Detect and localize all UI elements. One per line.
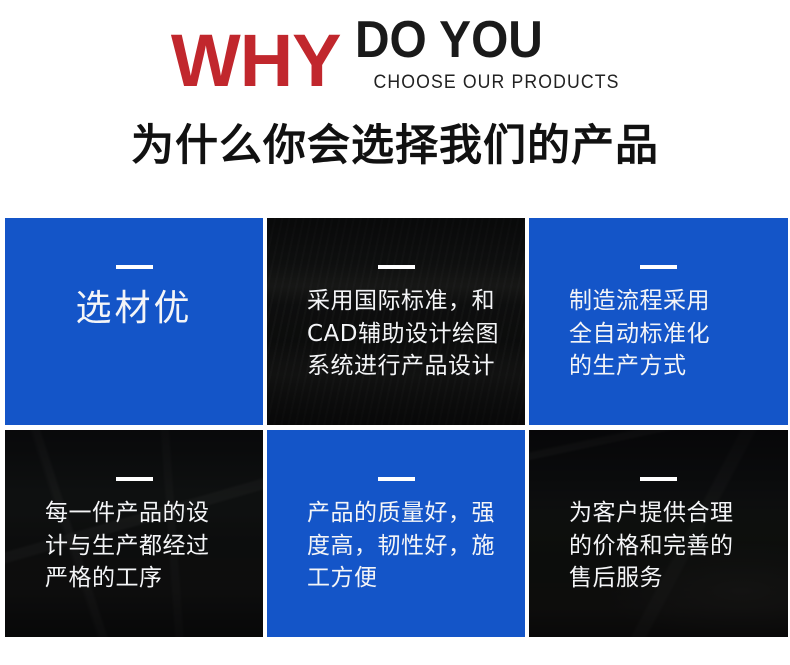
feature-text: 为客户提供合理 的价格和完善的 售后服务 bbox=[529, 497, 752, 595]
feature-text: 制造流程采用 全自动标准化 的生产方式 bbox=[529, 285, 728, 383]
feature-cell-service: 为客户提供合理 的价格和完善的 售后服务 bbox=[529, 430, 788, 637]
divider-dash-icon bbox=[116, 477, 153, 481]
feature-cell-manufacturing: 制造流程采用 全自动标准化 的生产方式 bbox=[529, 218, 788, 425]
feature-grid: 选材优 采用国际标准，和 CAD辅助设计绘图 系统进行产品设计 制造流程采用 全… bbox=[5, 218, 786, 641]
feature-text: 采用国际标准，和 CAD辅助设计绘图 系统进行产品设计 bbox=[267, 285, 517, 383]
feature-text: 产品的质量好，强 度高，韧性好，施 工方便 bbox=[267, 497, 513, 595]
feature-text: 每一件产品的设 计与生产都经过 严格的工序 bbox=[5, 497, 228, 595]
headline-english: WHY DO YOU CHOOSE OUR PRODUCTS bbox=[0, 16, 790, 96]
divider-dash-icon bbox=[378, 265, 415, 269]
headline-right-block: DO YOU CHOOSE OUR PRODUCTS bbox=[355, 14, 620, 96]
feature-cell-strict-process: 每一件产品的设 计与生产都经过 严格的工序 bbox=[5, 430, 263, 637]
headline-subtitle: CHOOSE OUR PRODUCTS bbox=[373, 73, 619, 94]
headline-do-you-word: DO YOU bbox=[355, 14, 598, 66]
feature-text: 选材优 bbox=[75, 283, 192, 334]
divider-dash-icon bbox=[640, 265, 677, 269]
feature-cell-material: 选材优 bbox=[5, 218, 263, 425]
divider-dash-icon bbox=[640, 477, 677, 481]
divider-dash-icon bbox=[378, 477, 415, 481]
feature-cell-quality: 产品的质量好，强 度高，韧性好，施 工方便 bbox=[267, 430, 525, 637]
feature-cell-design-standard: 采用国际标准，和 CAD辅助设计绘图 系统进行产品设计 bbox=[267, 218, 525, 425]
banner-header: WHY DO YOU CHOOSE OUR PRODUCTS 为什么你会选择我们… bbox=[0, 0, 790, 212]
divider-dash-icon bbox=[116, 265, 153, 269]
promo-banner: WHY DO YOU CHOOSE OUR PRODUCTS 为什么你会选择我们… bbox=[0, 0, 790, 665]
headline-chinese: 为什么你会选择我们的产品 bbox=[0, 122, 790, 170]
headline-why-word: WHY bbox=[171, 26, 341, 96]
